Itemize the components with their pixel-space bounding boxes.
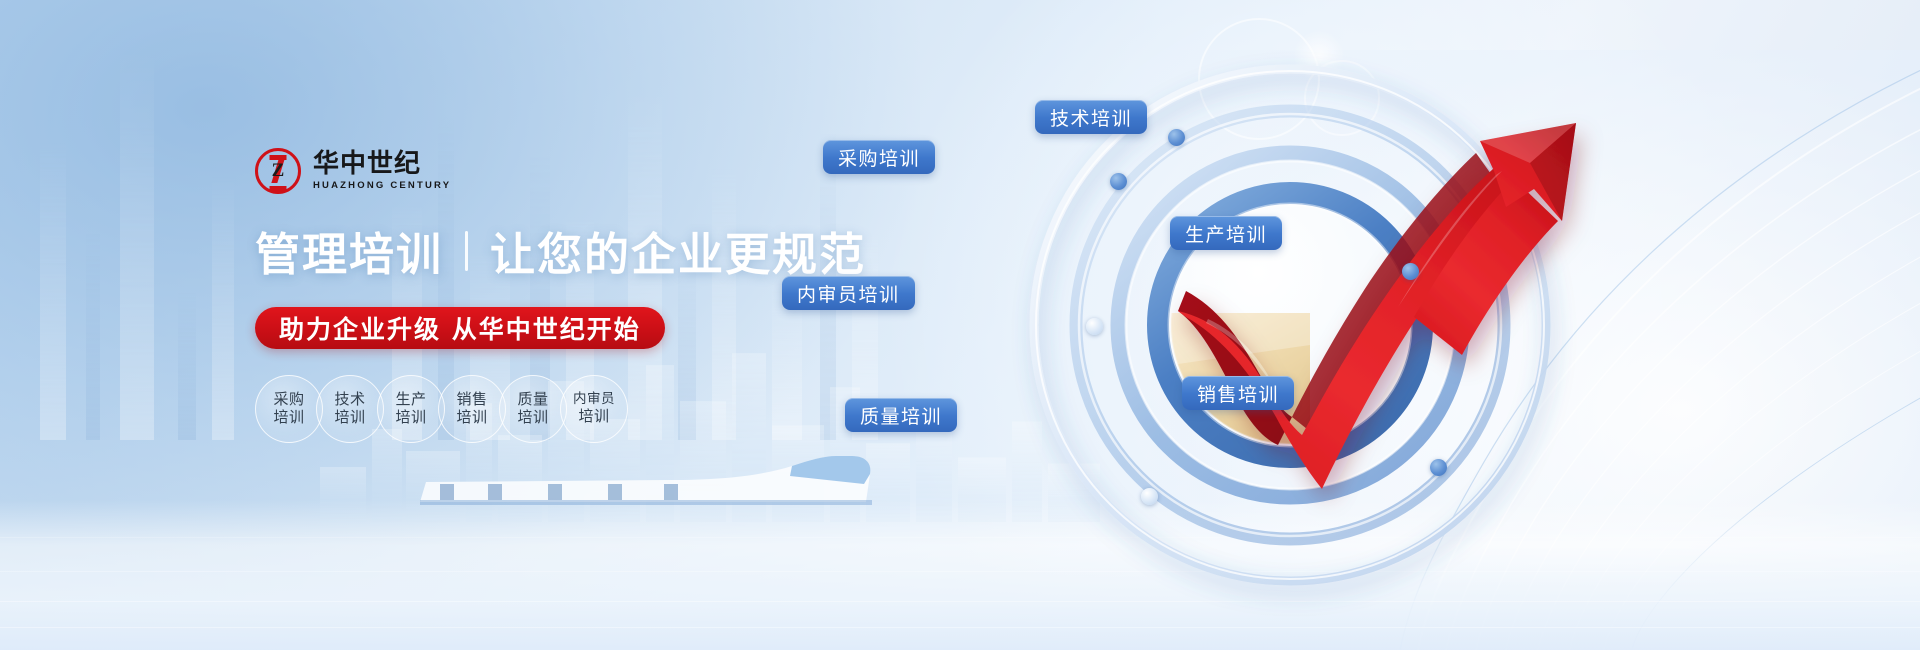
callout-dot-zhiliang <box>1141 488 1158 505</box>
chip-line-1: 销售 <box>456 391 487 409</box>
headline-left: 管理培训 <box>255 218 443 283</box>
chip-line-2: 培训 <box>273 409 304 427</box>
chip-line-2: 培训 <box>334 409 365 427</box>
callout-dot-xiaoshou <box>1430 459 1447 476</box>
callout-dot-neishenyuan <box>1086 318 1103 335</box>
ground-perspective-lines <box>0 500 1920 650</box>
brand-name-cn: 华中世纪 <box>313 151 451 178</box>
training-chip-shengchan[interactable]: 生产 培训 <box>377 375 445 443</box>
training-chip-list: 采购 培训 技术 培训 生产 培训 销售 培训 质量 培训 内审员 培训 <box>255 375 875 443</box>
bullet-train-silhouette <box>420 454 900 514</box>
brand-wordmark: 华中世纪 HUAZHONG CENTURY <box>313 151 451 191</box>
training-chip-neishenyuan[interactable]: 内审员 培训 <box>560 375 628 443</box>
brand-logo: Z 华中世纪 HUAZHONG CENTURY <box>255 150 875 192</box>
training-chip-jishu[interactable]: 技术 培训 <box>316 375 384 443</box>
callout-neishenyuan-peixun[interactable]: 内审员培训 <box>782 276 915 310</box>
chip-line-1: 内审员 <box>573 392 615 408</box>
training-chip-xiaoshou[interactable]: 销售 培训 <box>438 375 506 443</box>
logo-monogram: Z <box>258 151 298 191</box>
chip-line-2: 培训 <box>578 408 609 426</box>
headline-right: 让您的企业更规范 <box>490 218 866 283</box>
callout-dot-caigou <box>1110 173 1127 190</box>
callout-dot-jishu <box>1168 129 1185 146</box>
huazhong-circle-z-logo-icon: Z <box>255 148 301 194</box>
training-chip-zhiliang[interactable]: 质量 培训 <box>499 375 567 443</box>
chip-line-2: 培训 <box>517 409 548 427</box>
chip-line-1: 质量 <box>517 391 548 409</box>
callout-dot-shengchan <box>1402 263 1419 280</box>
page-title: 管理培训 让您的企业更规范 <box>255 218 875 283</box>
headline-separator <box>465 231 468 271</box>
chip-line-1: 采购 <box>273 391 304 409</box>
chip-line-2: 培训 <box>395 409 426 427</box>
training-chip-caigou[interactable]: 采购 培训 <box>255 375 323 443</box>
ground-reflection <box>0 500 1920 650</box>
chip-line-1: 技术 <box>334 391 365 409</box>
marketing-banner: Z 华中世纪 HUAZHONG CENTURY 管理培训 让您的企业更规范 助力… <box>0 0 1920 650</box>
tagline-ribbon: 助力企业升级 从华中世纪开始 <box>255 307 665 349</box>
brand-name-en: HUAZHONG CENTURY <box>313 180 451 191</box>
callout-caigou-peixun[interactable]: 采购培训 <box>823 140 935 174</box>
callout-zhiliang-peixun[interactable]: 质量培训 <box>845 398 957 432</box>
callout-jishu-peixun[interactable]: 技术培训 <box>1035 100 1147 134</box>
chip-line-1: 生产 <box>395 391 426 409</box>
chip-line-2: 培训 <box>456 409 487 427</box>
callout-shengchan-peixun[interactable]: 生产培训 <box>1170 216 1282 250</box>
callout-xiaoshou-peixun[interactable]: 销售培训 <box>1182 376 1294 410</box>
